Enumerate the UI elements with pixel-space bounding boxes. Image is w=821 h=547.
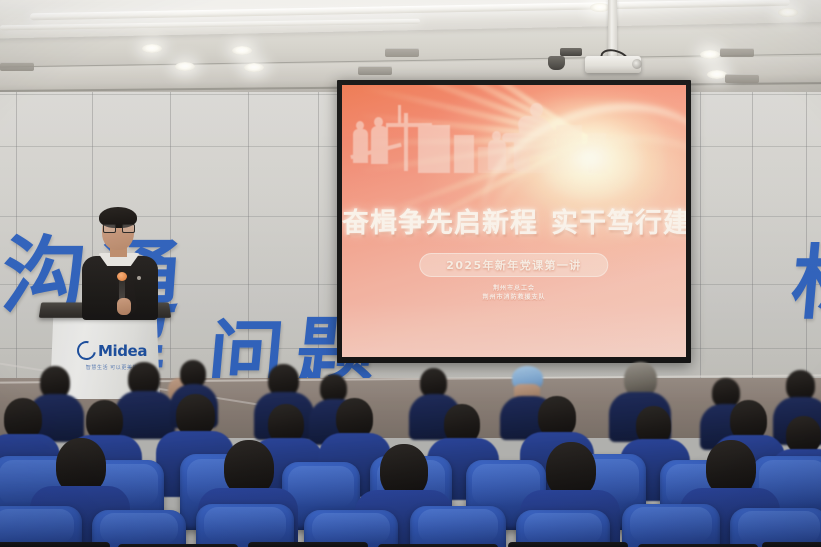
air-vent-icon xyxy=(385,48,419,57)
projection-screen: 奋楫争先启新程实干笃行建新功 2025年新年党课第一讲 荆州市总工会 荆州市消防… xyxy=(342,85,686,357)
slide-title-left: 奋楫争先启新程 xyxy=(342,208,538,239)
air-vent-icon xyxy=(720,48,754,57)
chair xyxy=(410,506,506,547)
chair-rail xyxy=(0,542,110,547)
projector-lens-icon xyxy=(632,59,642,69)
slide-title: 奋楫争先启新程实干笃行建新功 xyxy=(342,201,686,240)
chair-rail xyxy=(762,542,821,547)
chair-rail xyxy=(508,542,628,547)
chair xyxy=(0,506,82,547)
ceiling-speaker-icon xyxy=(548,56,565,70)
downlight-icon xyxy=(232,46,252,55)
air-vent-icon xyxy=(725,74,759,83)
podium-brand-name: Midea xyxy=(98,342,147,360)
audience xyxy=(0,360,821,547)
lecture-hall-photo: 沟 通 解 问 题 标 xyxy=(0,0,821,547)
chair xyxy=(622,504,720,547)
slide-organization: 荆州市总工会 荆州市消防救援支队 xyxy=(342,285,686,303)
glasses-icon xyxy=(103,224,133,231)
slide-org-line-2: 荆州市消防救援支队 xyxy=(342,294,686,303)
chair-rail xyxy=(248,542,368,547)
microphone-head-icon xyxy=(117,272,127,281)
presenter-hand xyxy=(117,298,131,315)
downlight-icon xyxy=(142,44,162,53)
slide-org-line-1: 荆州市总工会 xyxy=(342,285,686,294)
presenter xyxy=(74,206,166,318)
downlight-icon xyxy=(700,50,720,59)
chair xyxy=(196,504,294,547)
air-vent-icon xyxy=(358,66,392,75)
slide-title-right: 实干笃行建新功 xyxy=(551,208,686,239)
downlight-icon xyxy=(175,62,195,71)
ceiling-speaker-mount xyxy=(560,48,582,56)
downlight-icon xyxy=(244,63,264,72)
air-vent-icon xyxy=(0,62,34,71)
projection-screen-frame: 奋楫争先启新程实干笃行建新功 2025年新年党课第一讲 荆州市总工会 荆州市消防… xyxy=(337,80,691,363)
downlight-icon xyxy=(590,3,610,12)
downlight-icon xyxy=(707,70,727,79)
downlight-icon xyxy=(778,8,798,17)
screen-glare xyxy=(342,303,686,357)
presenter-lapel-pin xyxy=(137,276,141,280)
slide-badge: 2025年新年党课第一讲 xyxy=(419,253,608,277)
